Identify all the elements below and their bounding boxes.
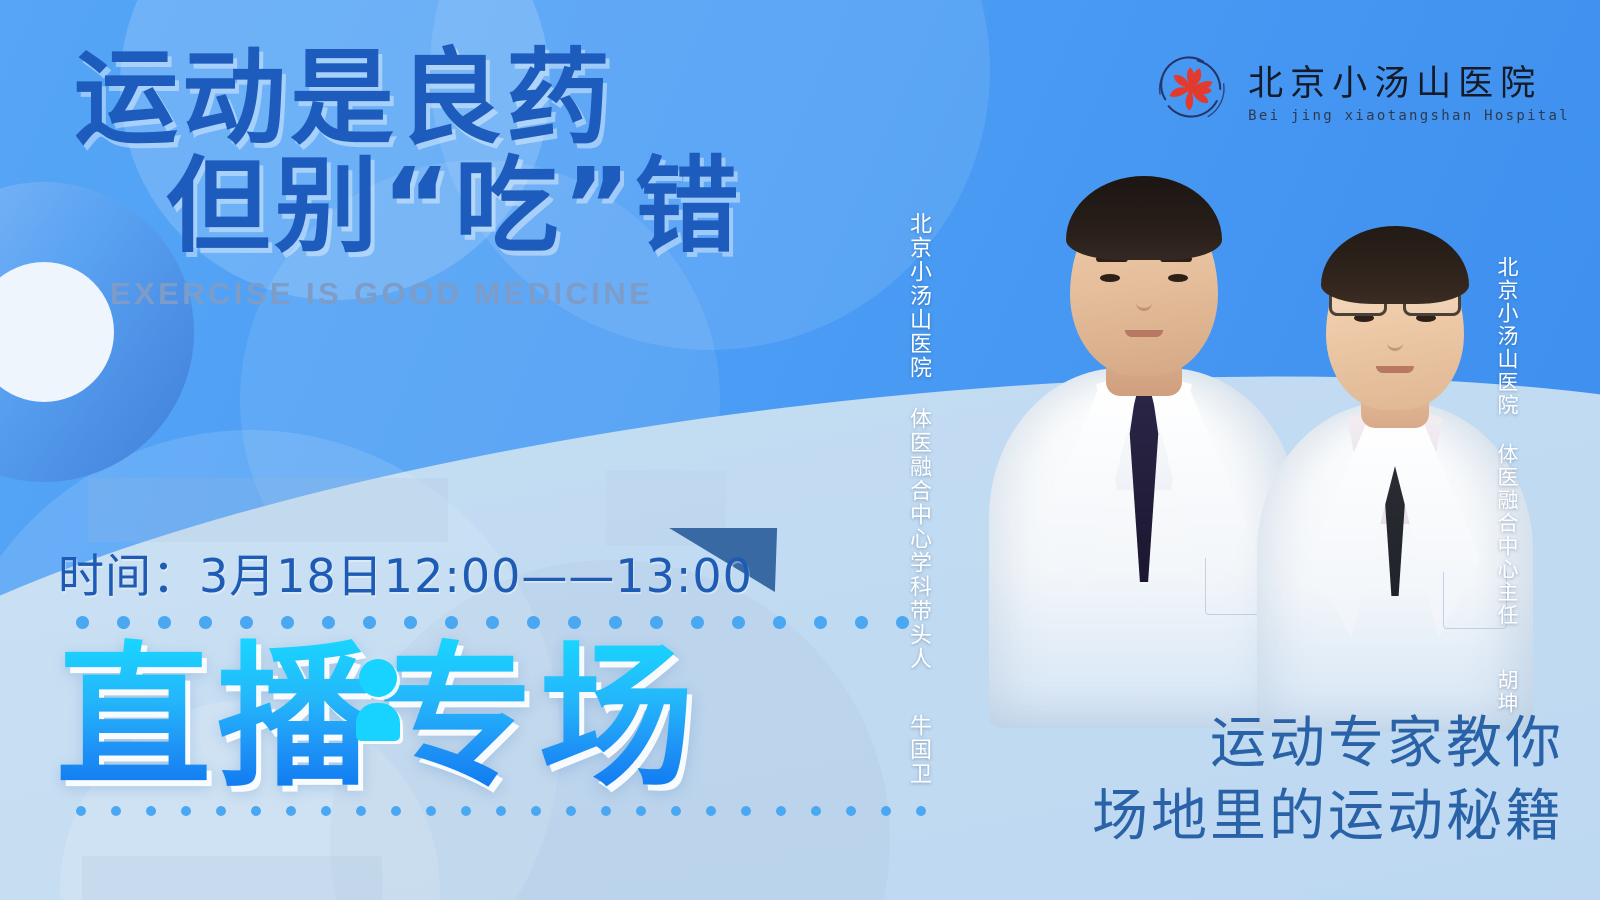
tagline-line-1: 运动专家教你 (1092, 708, 1564, 781)
decorative-rect-2 (82, 856, 382, 900)
doctor-2-mouth (1376, 366, 1414, 373)
doctor-2-credit: 北京小汤山医院 体医融合中心主任 胡坤 (1492, 256, 1522, 506)
dot (811, 806, 821, 816)
live-title-text: 直播专场 (56, 637, 936, 800)
dot (846, 806, 856, 816)
headline-subtitle-english: EXERCISE IS GOOD MEDICINE (74, 276, 914, 312)
doctor-2-affiliation: 北京小汤山医院 (1495, 256, 1519, 417)
doctor-1-eye-left (1100, 274, 1120, 282)
doctor-2-nose (1387, 328, 1403, 351)
dot (814, 616, 827, 629)
dot (741, 806, 751, 816)
headline-line-1: 运动是良药 (74, 44, 914, 152)
dot (881, 806, 891, 816)
headline-block: 运动是良药 但别“吃”错 EXERCISE IS GOOD MEDICINE (74, 44, 914, 312)
dot (776, 806, 786, 816)
dot (706, 806, 716, 816)
dot (916, 806, 926, 816)
doctor-1-credit: 体医融合中心主任 北京小汤山医院 体医融合中心学科带头人 牛国卫 (902, 212, 934, 512)
event-time: 时间：3月18日12:00——13:00 (58, 540, 753, 606)
tagline-line-2: 场地里的运动秘籍 (1092, 781, 1564, 854)
doctor-1-lapel-left (1041, 384, 1137, 604)
dot (896, 616, 909, 629)
doctor-portraits-group: 体医融合中心主任 北京小汤山医院 体医融合中心学科带头人 牛国卫 北京小汤山医院… (880, 0, 1600, 780)
dot (773, 616, 786, 629)
doctor-1-hair (1066, 176, 1222, 260)
promo-poster: 运动是良药 但别“吃”错 EXERCISE IS GOOD MEDICINE (0, 0, 1600, 900)
headline-line-2: 但别“吃”错 (74, 152, 914, 260)
doctor-1-eye-right (1168, 274, 1188, 282)
doctor-1-affiliation: 北京小汤山医院 (906, 212, 931, 380)
doctor-2-hair (1321, 226, 1469, 304)
decorative-rect-1 (88, 478, 448, 542)
tagline-block: 运动专家教你 场地里的运动秘籍 (1092, 708, 1564, 854)
doctor-1-mouth (1125, 330, 1163, 337)
doctor-2-role: 体医融合中心主任 (1495, 443, 1519, 627)
dot (732, 616, 745, 629)
live-title-block: 直播专场 (56, 616, 936, 816)
dot (855, 616, 868, 629)
doctor-1-nose (1136, 288, 1152, 311)
